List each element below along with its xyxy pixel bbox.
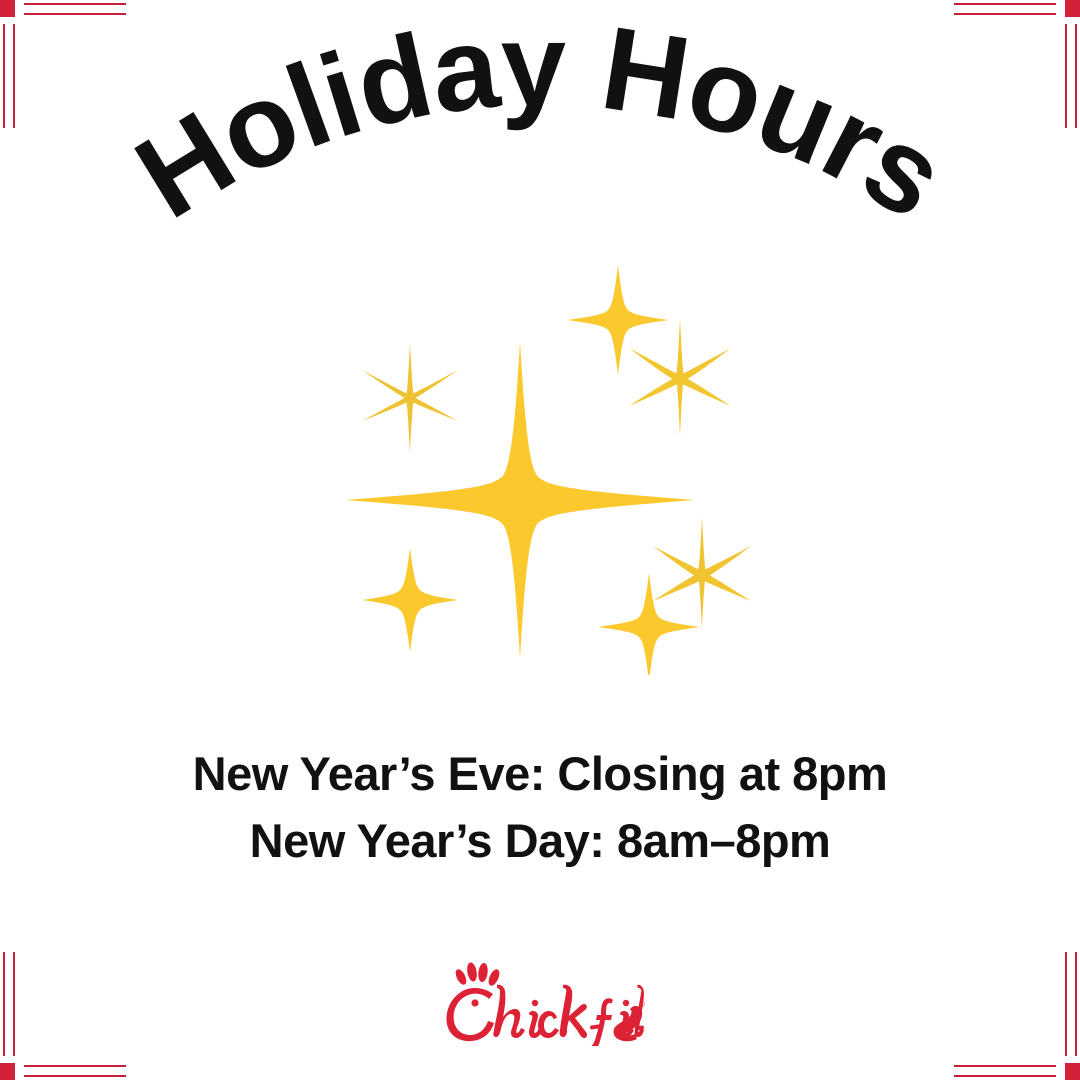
logo-letter-k: [560, 985, 587, 1038]
hours-line-nye: New Year’s Eve: Closing at 8pm: [0, 740, 1080, 807]
logo-trademark: ®: [639, 1000, 645, 1009]
logo-eye-dot: [471, 999, 478, 1006]
corner-square-icon: [0, 1063, 15, 1080]
sparkle-cluster-svg: [320, 265, 760, 675]
holiday-hours-list: New Year’s Eve: Closing at 8pm New Year’…: [0, 740, 1080, 874]
sparkle-bottom-right-4point-icon: [598, 573, 700, 675]
arched-title-svg: Holiday Hours: [0, 0, 1080, 300]
logo-i2-dot: [623, 1000, 629, 1006]
logo-letter-c: [446, 988, 494, 1041]
sparkle-top-4point-icon: [567, 265, 669, 375]
corner-hline-inner: [24, 1065, 126, 1067]
sparkle-upper-left-6point-icon: [362, 343, 458, 453]
logo-letter-c2: [538, 1011, 559, 1038]
corner-hline-outer: [954, 1075, 1056, 1077]
hours-line-nyd: New Year’s Day: 8am–8pm: [0, 807, 1080, 874]
sparkle-lower-right-6point-icon: [653, 517, 751, 629]
page-title-textpath: Holiday Hours: [115, 0, 967, 244]
corner-square-icon: [1065, 1063, 1080, 1080]
chicken-comb-icon: [454, 962, 502, 988]
sparkle-lower-left-4point-icon: [362, 548, 458, 652]
page-title-text: Holiday Hours: [115, 0, 967, 244]
corner-hline-inner: [954, 1065, 1056, 1067]
logo-i-dot: [532, 1000, 538, 1006]
corner-hline-outer: [24, 1075, 126, 1077]
brand-logo: ®: [0, 960, 1080, 1051]
logo-letters-hick: [493, 985, 525, 1038]
sparkle-cluster-icon: [320, 265, 760, 675]
page-title: Holiday Hours: [0, 0, 1080, 300]
logo-letters-fil: [587, 998, 613, 1046]
holiday-hours-poster: Holiday Hours: [0, 0, 1080, 1080]
chick-fil-a-logo-icon: ®: [435, 960, 645, 1046]
sparkle-upper-right-6point-icon: [629, 318, 731, 436]
